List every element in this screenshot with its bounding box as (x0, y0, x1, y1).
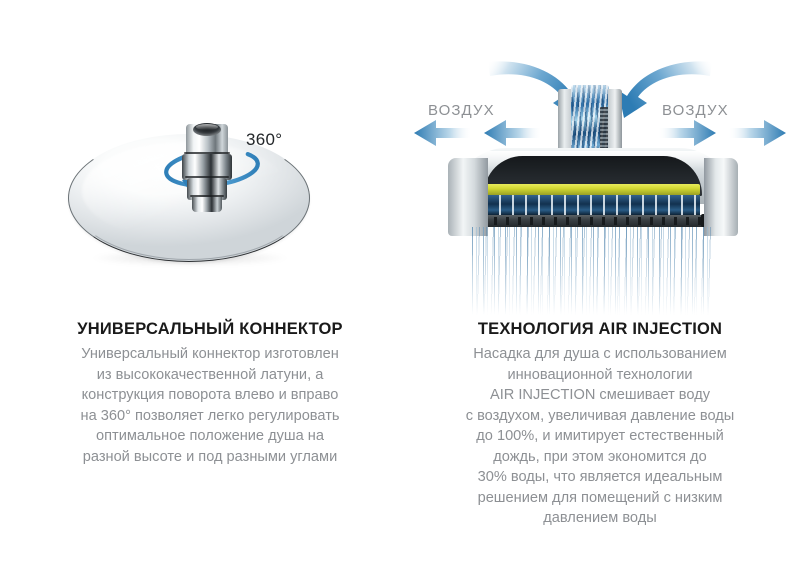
right-panel-heading: ТЕХНОЛОГИЯ AIR INJECTION (410, 320, 790, 339)
right-panel-body: Насадка для душа с использованием иннова… (410, 344, 790, 529)
connector-base (192, 197, 222, 212)
head-cut-column-left (448, 158, 488, 236)
swivel-connector (176, 118, 238, 214)
left-panel-body: Универсальный коннектор изготовлен из вы… (20, 344, 400, 467)
outflow-arrow-left-inner (484, 120, 542, 146)
left-panel-heading: УНИВЕРСАЛЬНЫЙ КОННЕКТОР (20, 320, 400, 339)
inflow-arrow-right (618, 61, 712, 118)
tube-shell-left (558, 89, 572, 155)
inlet-tube (558, 85, 622, 157)
outflow-arrow-left-outer (414, 120, 472, 146)
water-streams-secondary (472, 227, 714, 315)
head-cut-column-right (704, 158, 738, 236)
nozzle-holes (482, 217, 704, 225)
showerhead-cutaway (448, 148, 738, 238)
water-spray (472, 227, 714, 315)
panel-air-injection: ВОЗДУХ ВОЗДУХ (410, 0, 790, 564)
tube-shell-right (608, 89, 622, 155)
air-injection-illustration: ВОЗДУХ ВОЗДУХ (410, 40, 790, 310)
membrane-band (486, 184, 700, 195)
infographic-page: 360° УНИВЕРСАЛЬНЫЙ КОННЕКТОР Универсальн… (0, 0, 800, 564)
connector-bore-highlight (196, 124, 218, 130)
outflow-arrow-right-inner (658, 120, 716, 146)
outflow-arrow-right-outer (728, 120, 786, 146)
water-chamber (486, 195, 700, 215)
rotation-degree-label: 360° (246, 130, 282, 150)
showerhead-illustration: 360° (20, 108, 400, 308)
panel-universal-connector: 360° УНИВЕРСАЛЬНЫЙ КОННЕКТОР Универсальн… (20, 0, 400, 564)
